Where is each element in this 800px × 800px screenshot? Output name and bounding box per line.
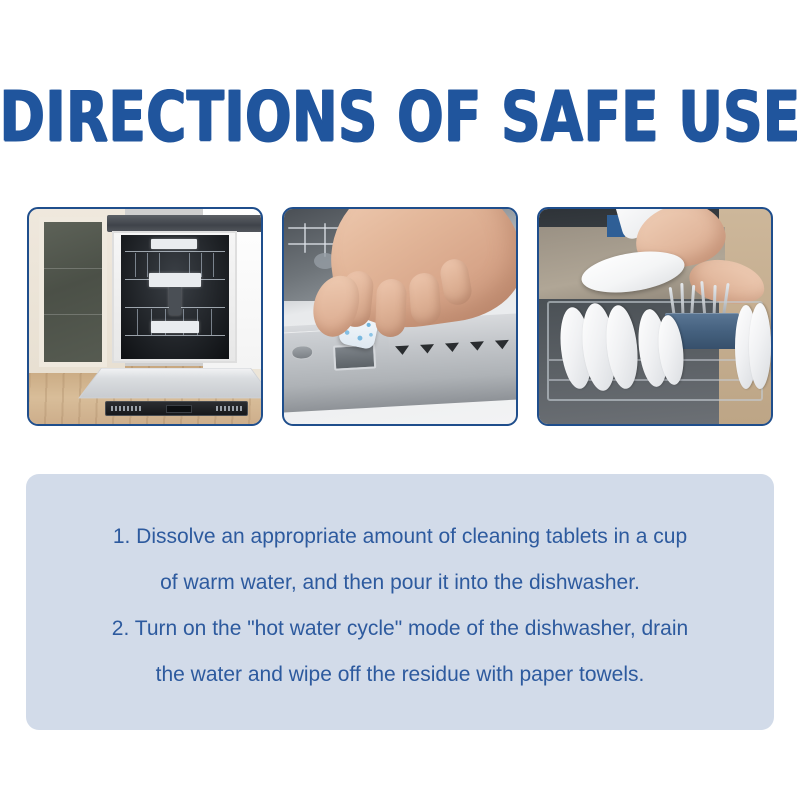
instruction-line-3: 2. Turn on the "hot water cycle" mode of…: [112, 606, 688, 652]
instruction-line-4: the water and wipe off the residue with …: [156, 652, 645, 698]
vent-triangle-icon: [495, 340, 509, 350]
glass-cabinet-door: [39, 217, 107, 367]
middle-finger: [375, 278, 407, 337]
instructions-panel: 1. Dissolve an appropriate amount of cle…: [26, 474, 774, 730]
rack-wire: [304, 223, 306, 253]
photo-loading-clean-plates: [537, 207, 773, 426]
dishwasher-control-panel: [105, 401, 248, 416]
countertop: [107, 215, 261, 232]
photo-row: [27, 207, 773, 426]
control-buttons-right[interactable]: [216, 406, 242, 411]
photo-3-scene: [539, 209, 771, 424]
rack-tine: [201, 253, 202, 277]
dishwasher-cavity: [121, 235, 229, 359]
rack-insert: [149, 273, 201, 287]
photo-2-scene: [284, 209, 516, 424]
vent-triangle-icon: [395, 345, 409, 355]
rack-insert: [151, 321, 199, 333]
rack-tine: [213, 253, 214, 277]
rinse-aid-cap[interactable]: [291, 345, 314, 360]
control-buttons-left[interactable]: [111, 406, 141, 411]
lower-rack: [125, 335, 225, 336]
vent-marks: [395, 340, 509, 355]
plate: [749, 303, 771, 389]
center-spray-column: [169, 287, 181, 315]
page-title: DIRECTIONS OF SAFE USE: [0, 82, 800, 151]
photo-1-scene: [29, 209, 261, 424]
photo-hand-placing-tablet-in-dispenser: [282, 207, 518, 426]
rack-insert: [151, 239, 197, 249]
rack-tine: [135, 253, 136, 277]
vent-triangle-icon: [470, 341, 484, 351]
control-display: [166, 405, 192, 413]
ring-finger: [408, 272, 442, 326]
upper-rack: [125, 251, 225, 252]
rack-tine: [211, 309, 212, 335]
rack-wire: [324, 223, 326, 257]
photo-open-dishwasher-in-kitchen: [27, 207, 263, 426]
vent-triangle-icon: [445, 343, 459, 353]
dishwasher-door-open: [78, 368, 261, 398]
rack-tine: [147, 253, 148, 277]
page-title-container: DIRECTIONS OF SAFE USE: [0, 78, 800, 156]
vent-triangle-icon: [420, 344, 434, 354]
rack-tine: [137, 309, 138, 335]
instruction-line-1: 1. Dissolve an appropriate amount of cle…: [113, 514, 687, 560]
instruction-line-2: of warm water, and then pour it into the…: [160, 560, 640, 606]
